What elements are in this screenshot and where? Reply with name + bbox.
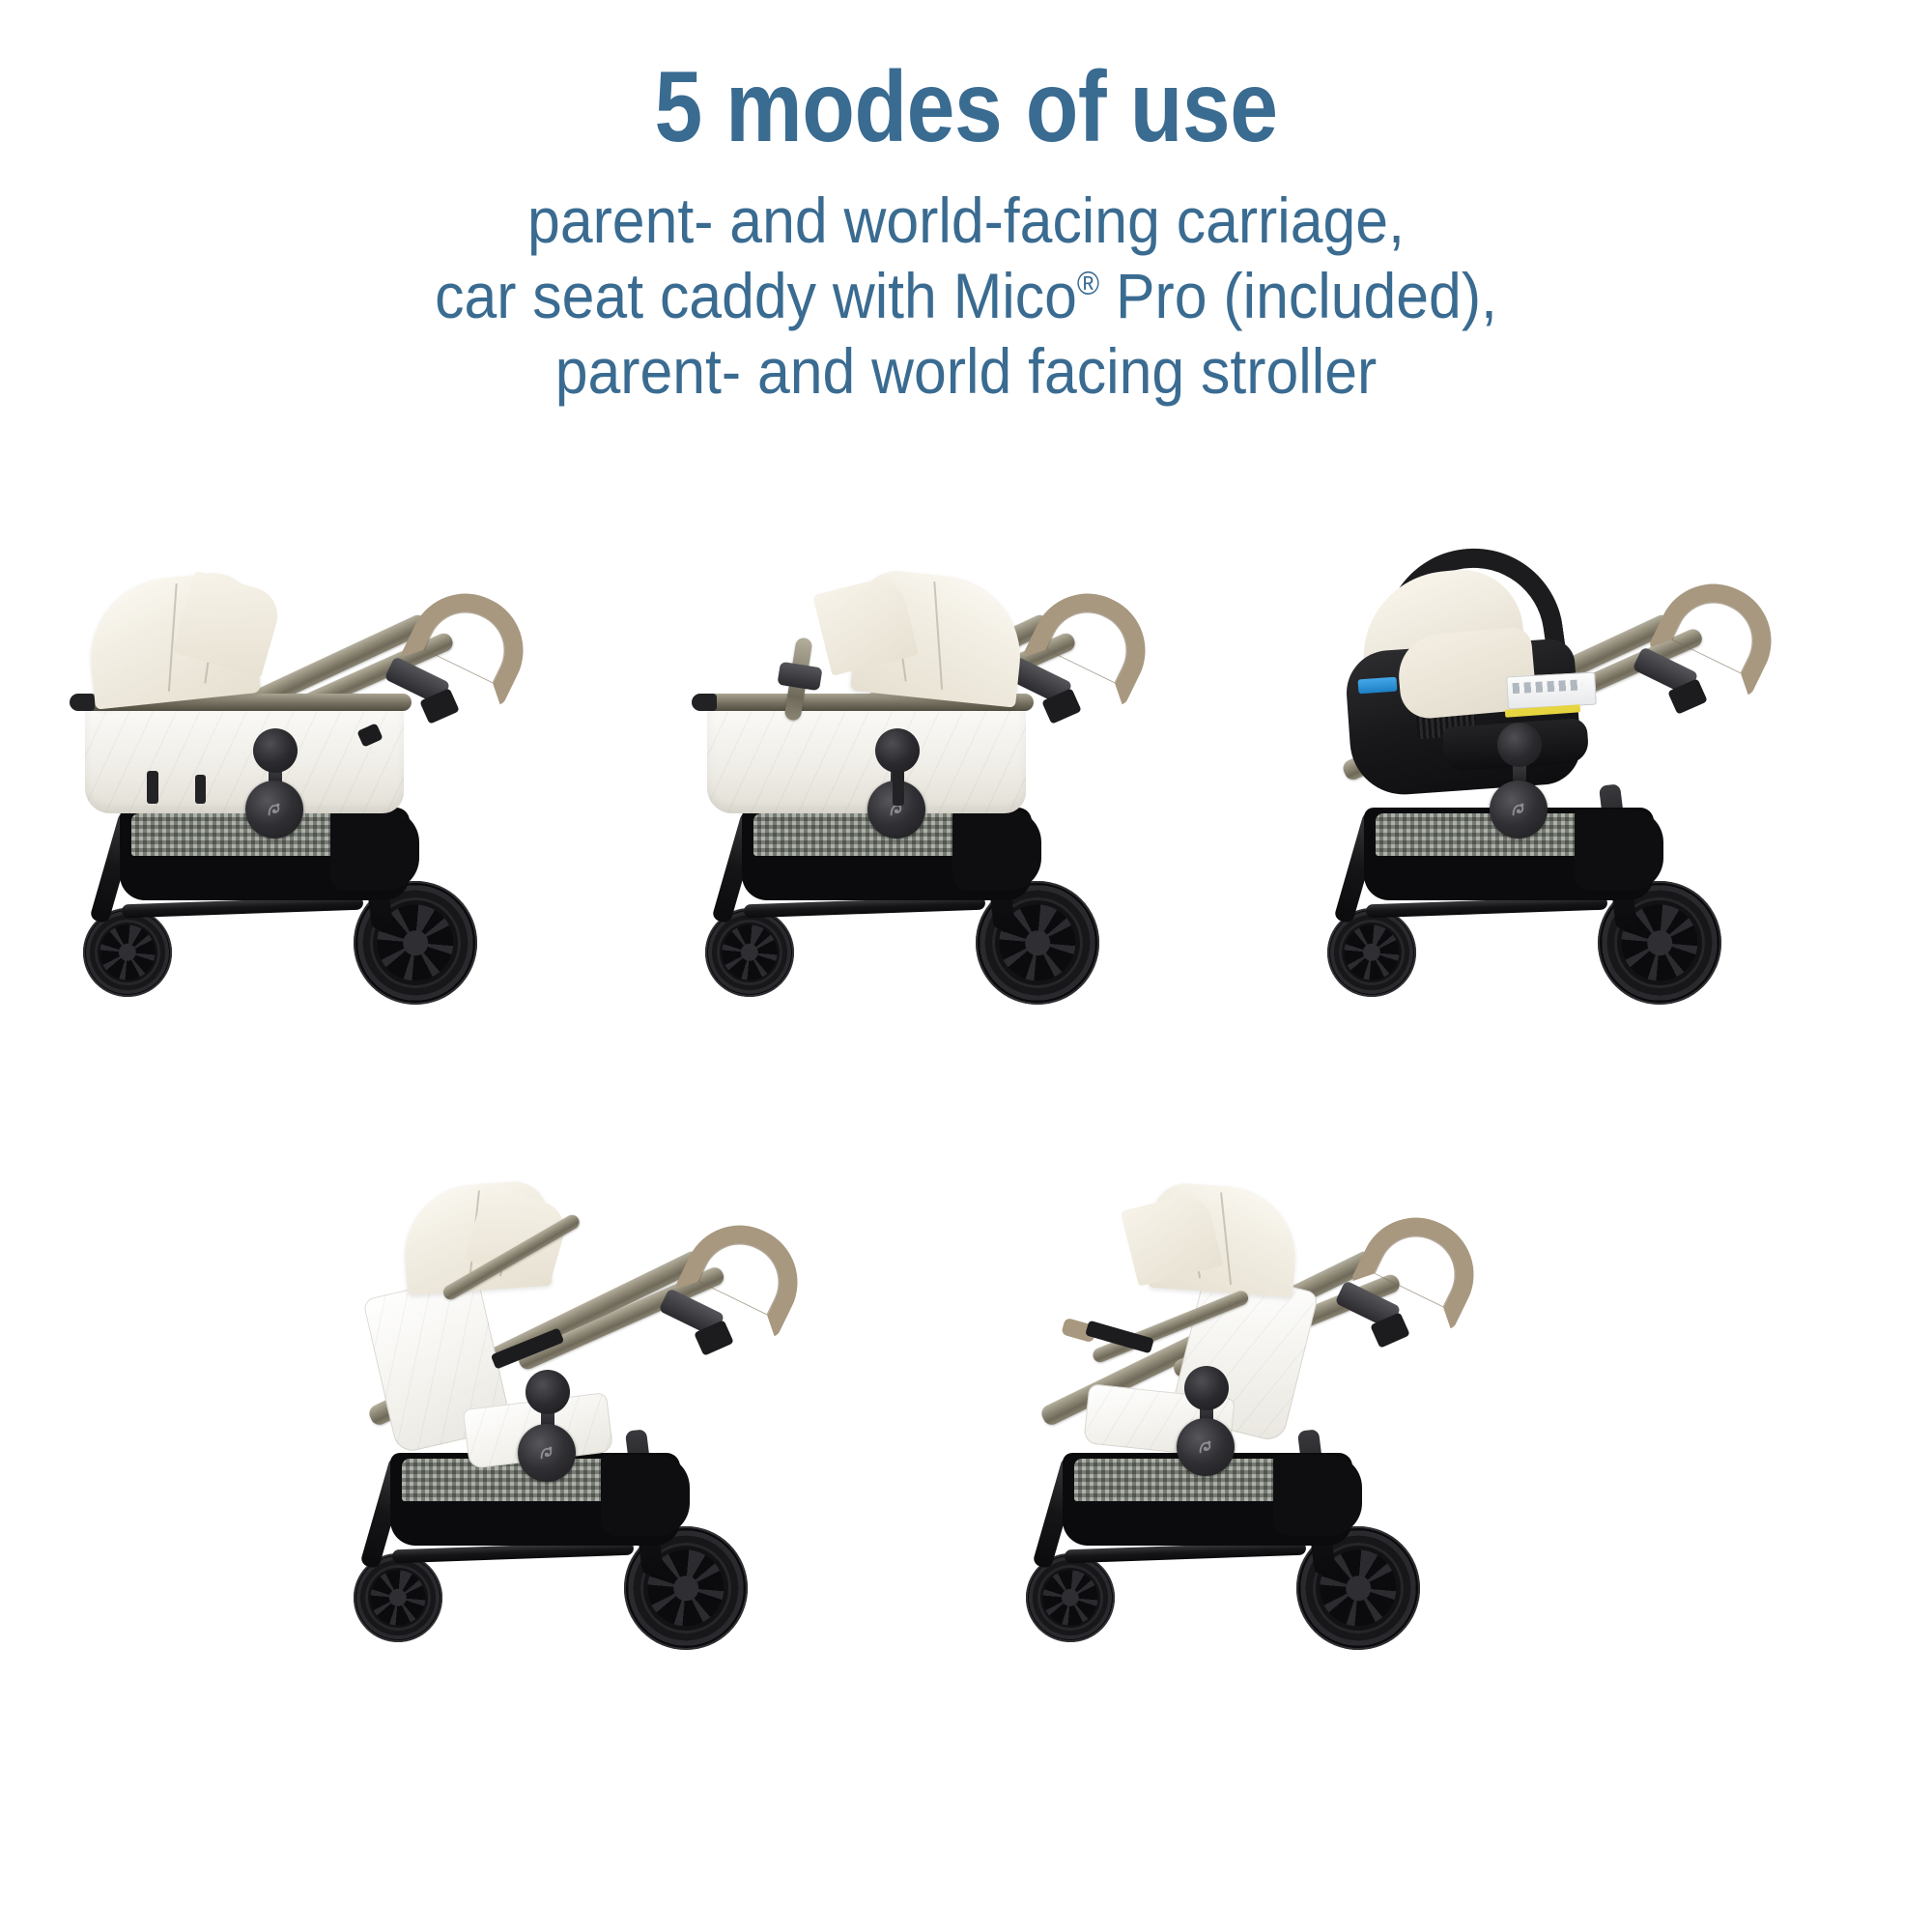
bassinet-body [85,705,404,813]
car-seat-blue-label [1358,677,1398,695]
maxi-cosi-logo-icon [262,797,287,822]
frame-hub-upper [253,728,298,773]
subtitle-line-3: parent- and world facing stroller [77,334,1855,410]
front-wheel [1327,908,1416,997]
frame-hub-maxi-cosi-logo [245,781,303,838]
product-mode-4-parent-facing-stroller [321,1161,939,1760]
product-grid [0,522,1932,1913]
product-mode-5-world-facing-stroller [993,1161,1611,1760]
car-seat-warning-label [1506,672,1597,710]
front-wheel [705,908,794,997]
frame-hub-upper [1497,723,1542,767]
frame-hub-maxi-cosi-logo [1490,781,1548,838]
bassinet-strap-a [147,771,158,804]
product-row-bottom [0,1161,1932,1760]
bassinet-strap-b [195,775,206,804]
frame-hub-upper [875,728,920,773]
basket-rear-lip [952,810,1041,891]
product-mode-2-world-facing-carriage [676,522,1256,1101]
registered-mark: ® [1077,265,1099,301]
subtitle-line-1: parent- and world-facing carriage, [77,184,1855,259]
basket-rear-lip [330,810,419,891]
maxi-cosi-logo-icon [1506,797,1531,822]
frame-hub-upper [526,1370,570,1414]
frame-hub-upper [1184,1366,1229,1410]
subtitle-line-2b: Pro (included), [1116,260,1497,331]
bassinet-strap-a [893,771,904,806]
page-subtitle: parent- and world-facing carriage, car s… [77,184,1855,410]
front-wheel [83,908,172,997]
page-title: 5 modes of use [135,56,1797,158]
subtitle-line-2: car seat caddy with Mico® Pro (included)… [77,259,1855,334]
basket-rear-lip [1273,1455,1362,1536]
basket-rear-lip [601,1455,690,1536]
product-mode-1-parent-facing-carriage [54,522,634,1101]
maxi-cosi-logo-icon [1193,1435,1218,1460]
front-wheel [354,1553,442,1642]
frame-hub-maxi-cosi-logo [1177,1418,1235,1476]
front-wheel [1026,1553,1115,1642]
product-mode-3-car-seat-caddy [1298,522,1878,1101]
frame-hub-maxi-cosi-logo [518,1424,576,1482]
support-post-collar [777,662,822,692]
infographic-page: 5 modes of use parent- and world-facing … [0,0,1932,1932]
bassinet-body [707,705,1026,813]
headline-block: 5 modes of use parent- and world-facing … [0,0,1932,410]
product-row-top [0,522,1932,1101]
subtitle-line-2a: car seat caddy with Mico [435,260,1077,331]
basket-rear-lip [1575,810,1663,891]
maxi-cosi-logo-icon [534,1440,559,1465]
